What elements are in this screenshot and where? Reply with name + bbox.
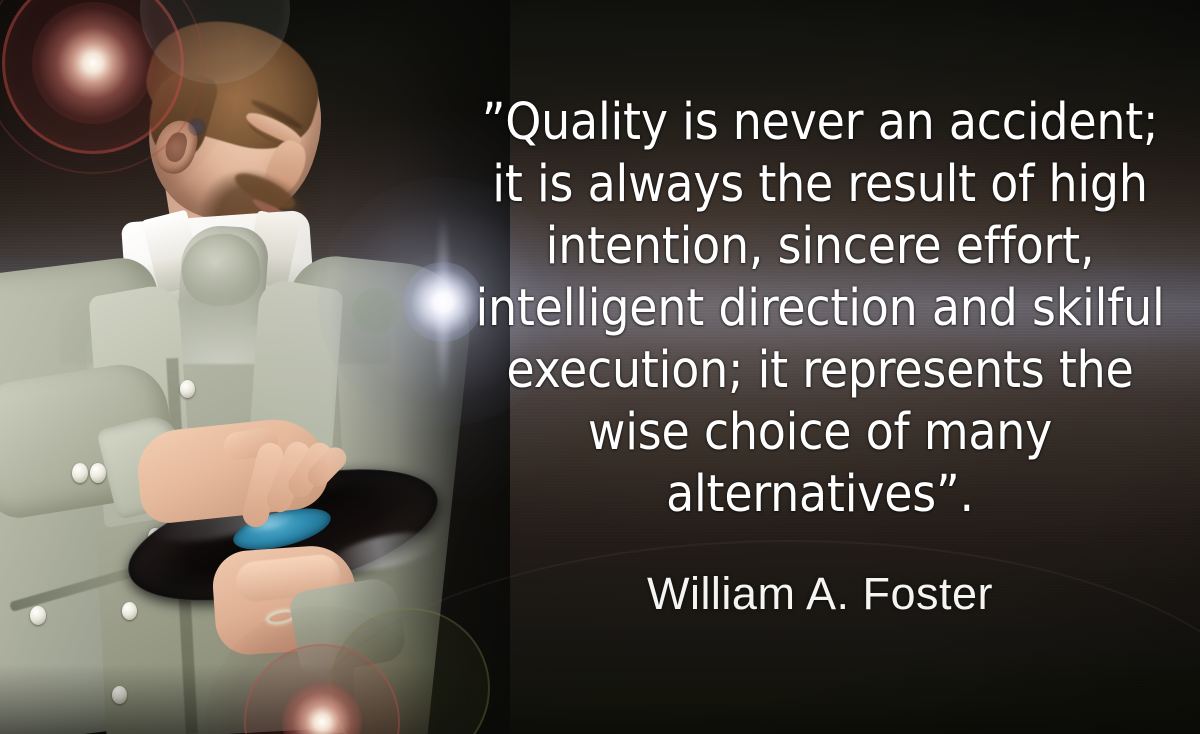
quote-poster: ”Quality is never an accident; it is alw…	[0, 0, 1200, 734]
cuff-button	[90, 463, 106, 483]
quote-line: execution; it represents the	[455, 340, 1185, 402]
suit-button	[112, 686, 127, 704]
cuff-button	[72, 463, 88, 483]
suit-button	[122, 602, 137, 620]
quote-line: it is always the result of high	[455, 154, 1185, 216]
quote-line: ”Quality is never an accident;	[455, 92, 1185, 154]
quote-text-block: ”Quality is never an accident; it is alw…	[455, 92, 1185, 526]
quote-line: intelligent direction and skilful	[455, 278, 1185, 340]
quote-line: wise choice of many	[455, 402, 1185, 464]
quote-line: alternatives”.	[455, 464, 1185, 526]
suit-button	[30, 606, 46, 625]
quote-line: intention, sincere effort,	[455, 216, 1185, 278]
quote-attribution: William A. Foster	[455, 566, 1185, 622]
suit-button	[180, 380, 195, 398]
man-figure	[0, 28, 470, 734]
